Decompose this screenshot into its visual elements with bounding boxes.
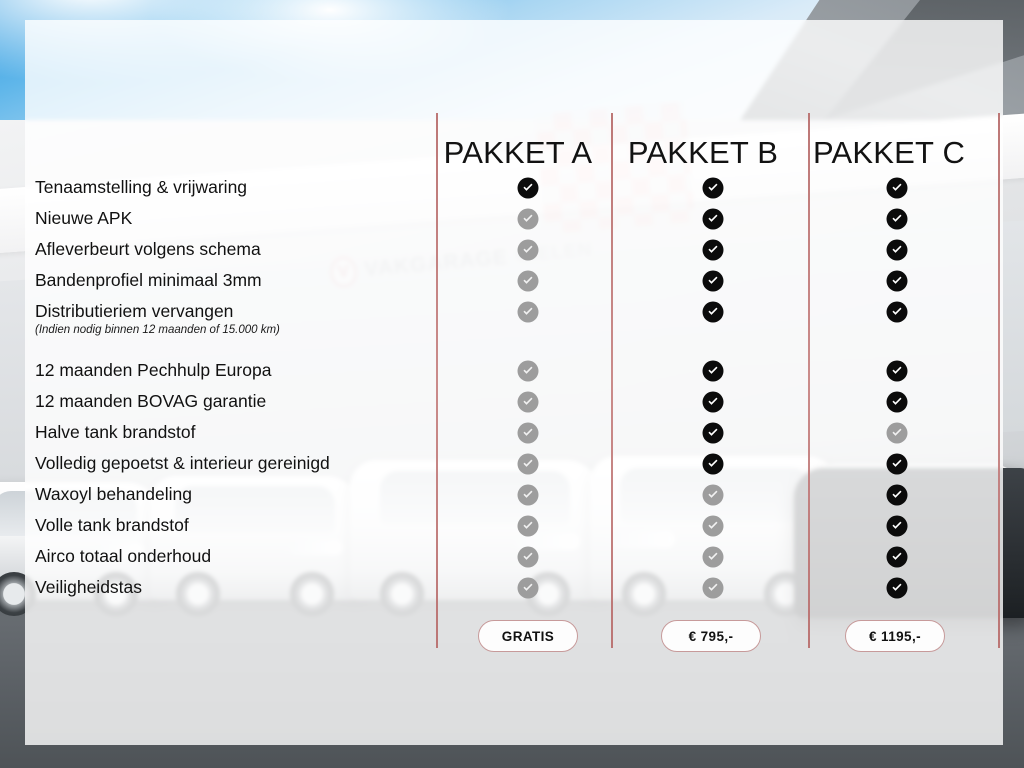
feature-label: Halve tank brandstof: [35, 417, 196, 448]
check-icon-pakket-c-included: [887, 484, 908, 505]
feature-label: Veiligheidstas: [35, 572, 142, 603]
feature-row: Nieuwe APK: [25, 203, 1003, 234]
check-icon-pakket-b-excluded: [703, 577, 724, 598]
check-icon-pakket-b-included: [703, 301, 724, 322]
check-icon-pakket-a-excluded: [518, 577, 539, 598]
feature-row: 12 maanden BOVAG garantie: [25, 386, 1003, 417]
check-icon-pakket-a-excluded: [518, 453, 539, 474]
check-icon-pakket-a-excluded: [518, 239, 539, 260]
check-icon-pakket-b-included: [703, 177, 724, 198]
feature-row: Bandenprofiel minimaal 3mm: [25, 265, 1003, 296]
feature-label: Airco totaal onderhoud: [35, 541, 211, 572]
check-icon-pakket-c-included: [887, 391, 908, 412]
comparison-panel: PAKKET A PAKKET B PAKKET C Tenaamstellin…: [25, 20, 1003, 745]
feature-label: Bandenprofiel minimaal 3mm: [35, 265, 262, 296]
check-icon-pakket-c-included: [887, 270, 908, 291]
feature-label: Tenaamstelling & vrijwaring: [35, 172, 247, 203]
check-icon-pakket-c-excluded: [887, 422, 908, 443]
feature-row: Veiligheidstas: [25, 572, 1003, 603]
check-icon-pakket-b-included: [703, 453, 724, 474]
feature-row: Distributieriem vervangen(Indien nodig b…: [25, 296, 1003, 327]
check-icon-pakket-a-included: [518, 177, 539, 198]
check-icon-pakket-a-excluded: [518, 270, 539, 291]
feature-row: Volledig gepoetst & interieur gereinigd: [25, 448, 1003, 479]
feature-row: Tenaamstelling & vrijwaring: [25, 172, 1003, 203]
feature-row: Waxoyl behandeling: [25, 479, 1003, 510]
check-icon-pakket-b-included: [703, 270, 724, 291]
feature-row: 12 maanden Pechhulp Europa: [25, 355, 1003, 386]
check-icon-pakket-c-included: [887, 239, 908, 260]
check-icon-pakket-b-included: [703, 391, 724, 412]
check-icon-pakket-b-excluded: [703, 515, 724, 536]
check-icon-pakket-a-excluded: [518, 484, 539, 505]
check-icon-pakket-c-included: [887, 208, 908, 229]
check-icon-pakket-b-excluded: [703, 546, 724, 567]
feature-note: (Indien nodig binnen 12 maanden of 15.00…: [35, 324, 280, 336]
feature-row: Afleverbeurt volgens schema: [25, 234, 1003, 265]
check-icon-pakket-a-excluded: [518, 515, 539, 536]
feature-row: Halve tank brandstof: [25, 417, 1003, 448]
price-pill-pakket-c[interactable]: € 1195,-: [845, 620, 945, 652]
check-icon-pakket-b-included: [703, 360, 724, 381]
feature-row: Airco totaal onderhoud: [25, 541, 1003, 572]
price-pill-pakket-b[interactable]: € 795,-: [661, 620, 761, 652]
check-icon-pakket-c-included: [887, 453, 908, 474]
check-icon-pakket-c-included: [887, 546, 908, 567]
price-pill-pakket-a[interactable]: GRATIS: [478, 620, 578, 652]
check-icon-pakket-c-included: [887, 360, 908, 381]
check-icon-pakket-a-excluded: [518, 422, 539, 443]
check-icon-pakket-c-included: [887, 577, 908, 598]
check-icon-pakket-a-excluded: [518, 360, 539, 381]
feature-label: Waxoyl behandeling: [35, 479, 192, 510]
feature-label: Distributieriem vervangen: [35, 296, 233, 327]
feature-label: Volle tank brandstof: [35, 510, 189, 541]
check-icon-pakket-c-included: [887, 177, 908, 198]
check-icon-pakket-a-excluded: [518, 546, 539, 567]
check-icon-pakket-c-included: [887, 515, 908, 536]
feature-label: 12 maanden BOVAG garantie: [35, 386, 266, 417]
check-icon-pakket-c-included: [887, 301, 908, 322]
check-icon-pakket-b-included: [703, 422, 724, 443]
check-icon-pakket-a-excluded: [518, 391, 539, 412]
check-icon-pakket-a-excluded: [518, 301, 539, 322]
feature-label: Nieuwe APK: [35, 203, 132, 234]
check-icon-pakket-a-excluded: [518, 208, 539, 229]
check-icon-pakket-b-included: [703, 239, 724, 260]
feature-label: 12 maanden Pechhulp Europa: [35, 355, 271, 386]
feature-label: Afleverbeurt volgens schema: [35, 234, 261, 265]
check-icon-pakket-b-included: [703, 208, 724, 229]
feature-row: Volle tank brandstof: [25, 510, 1003, 541]
check-icon-pakket-b-excluded: [703, 484, 724, 505]
feature-label: Volledig gepoetst & interieur gereinigd: [35, 448, 330, 479]
